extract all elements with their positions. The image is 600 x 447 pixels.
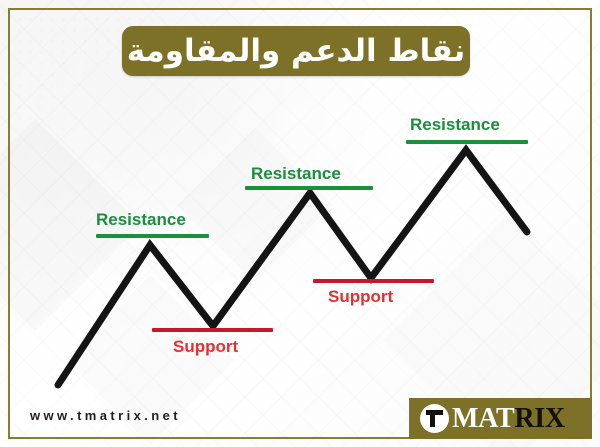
support-label: Support <box>173 338 238 355</box>
brand-logo: MATRIX <box>409 398 592 439</box>
price-line-chart <box>0 0 600 447</box>
website-url: www.tmatrix.net <box>30 408 181 423</box>
infographic-canvas: نقاط الدعم والمقاومة ResistanceResistanc… <box>0 0 600 447</box>
resistance-label: Resistance <box>410 116 500 133</box>
resistance-level-line <box>406 140 528 144</box>
tmatrix-logo-icon <box>420 404 449 433</box>
resistance-level-line <box>245 186 373 190</box>
resistance-level-line <box>96 234 209 238</box>
support-level-line <box>152 328 273 332</box>
logo-word-dark: RIX <box>514 403 564 434</box>
resistance-label: Resistance <box>96 211 186 228</box>
support-level-line <box>313 279 434 283</box>
logo-wordmark: MATRIX <box>452 405 565 433</box>
support-label: Support <box>328 288 393 305</box>
logo-word-light: MAT <box>452 403 514 434</box>
resistance-label: Resistance <box>251 165 341 182</box>
support-resistance-chart: ResistanceResistanceResistanceSupportSup… <box>0 0 600 447</box>
